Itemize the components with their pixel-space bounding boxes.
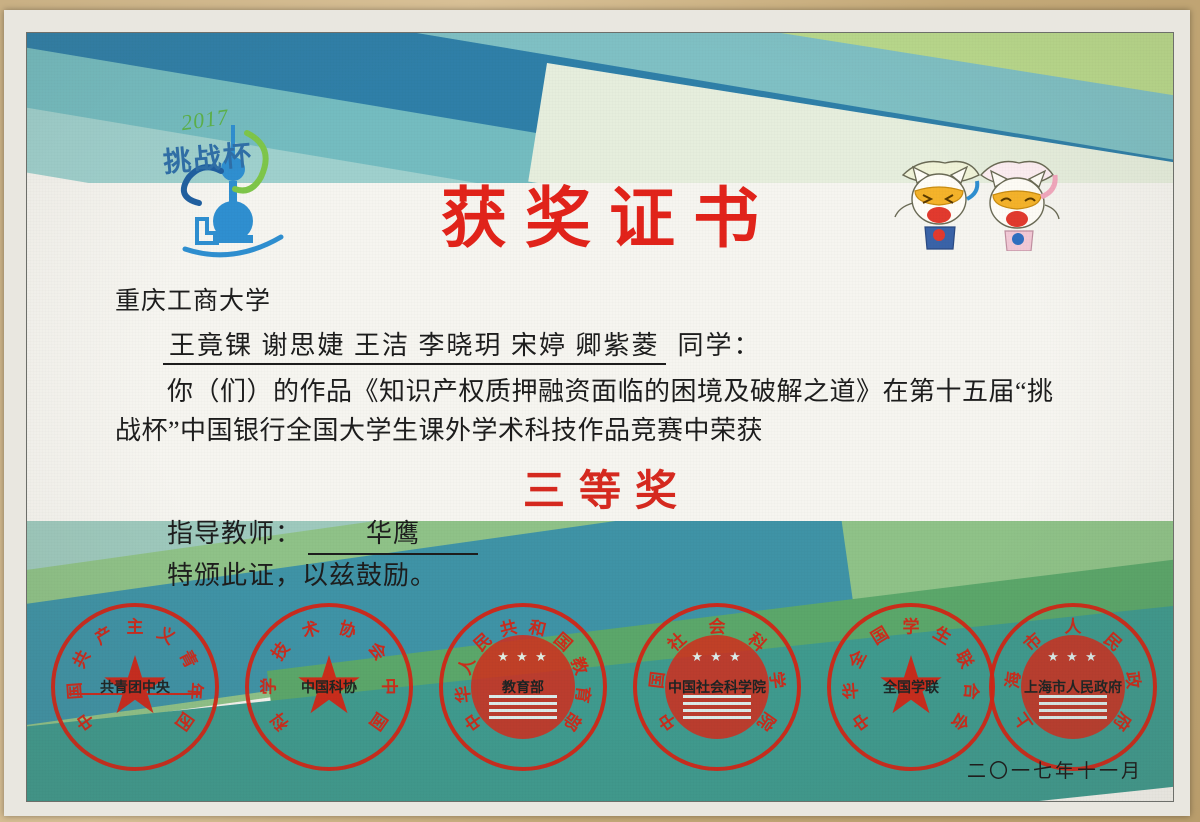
award-level: 三等奖 bbox=[27, 457, 1173, 518]
closing-statement: 特颁此证，以兹鼓励。 bbox=[167, 555, 437, 592]
seal-center-label: 上海市人民政府 bbox=[993, 677, 1153, 697]
advisor-label: 指导教师： bbox=[167, 519, 302, 548]
advisor-name: 华鹰 bbox=[308, 513, 478, 555]
award-statement: 你（们）的作品《知识产权质押融资面临的困境及破解之道》在第十五届“挑 战杯”中国… bbox=[115, 372, 1095, 450]
certificate-card: 2017 挑战杯 获奖证书 bbox=[26, 32, 1174, 802]
award-statement-line2: 战杯”中国银行全国大学生课外学术科技作品竞赛中荣获 bbox=[115, 416, 763, 445]
seal-china-association-science-technology: 科学技术协会中国 中国科协 bbox=[245, 603, 413, 771]
certificate-body: 重庆工商大学 王竟锞 谢思婕 王洁 李晓玥 宋婷 卿紫菱同学： 你（们）的作品《… bbox=[115, 281, 1095, 450]
seal-all-china-students-federation: 中华全国学生联合会 全国学联 bbox=[827, 603, 995, 771]
award-statement-line1: 你（们）的作品《知识产权质押融资面临的困境及破解之道》在第十五届“挑 bbox=[115, 377, 1054, 406]
seal-center-label: 教育部 bbox=[443, 677, 603, 697]
seal-center-label: 中国科协 bbox=[249, 677, 409, 697]
seal-communist-youth-league: 中国共产主义青年团 共青团中央 bbox=[51, 603, 219, 771]
certificate-paper: 2017 挑战杯 获奖证书 bbox=[4, 10, 1190, 816]
issue-date: 二〇一七年十一月 bbox=[967, 756, 1143, 783]
seal-center-label: 中国社会科学院 bbox=[637, 677, 797, 697]
mascot-illustration bbox=[893, 141, 1073, 251]
certificate-photo: 2017 挑战杯 获奖证书 bbox=[0, 0, 1200, 822]
recipient-students-line: 王竟锞 谢思婕 王洁 李晓玥 宋婷 卿紫菱同学： bbox=[115, 325, 1095, 362]
seal-ministry-of-education: 中华人民共和国教育部 ★ ★ ★ 教育部 bbox=[439, 603, 607, 771]
recipient-students: 王竟锞 谢思婕 王洁 李晓玥 宋婷 卿紫菱 bbox=[163, 331, 666, 365]
seal-center-label: 共青团中央 bbox=[55, 677, 215, 697]
advisor-line: 指导教师：华鹰 bbox=[167, 513, 478, 555]
official-seals: 中国共产主义青年团 共青团中央 科学技术协会中国 中国科协 中华人民共和国教育部… bbox=[27, 593, 1173, 783]
seal-chinese-academy-social-sciences: 中国社会科学院 ★ ★ ★ 中国社会科学院 bbox=[633, 603, 801, 771]
recipient-university: 重庆工商大学 bbox=[115, 281, 1095, 317]
recipient-suffix: 同学： bbox=[678, 331, 762, 360]
seal-shanghai-municipal-government: 上海市人民政府 ★ ★ ★ 上海市人民政府 bbox=[989, 603, 1157, 771]
seal-center-label: 全国学联 bbox=[831, 677, 991, 697]
